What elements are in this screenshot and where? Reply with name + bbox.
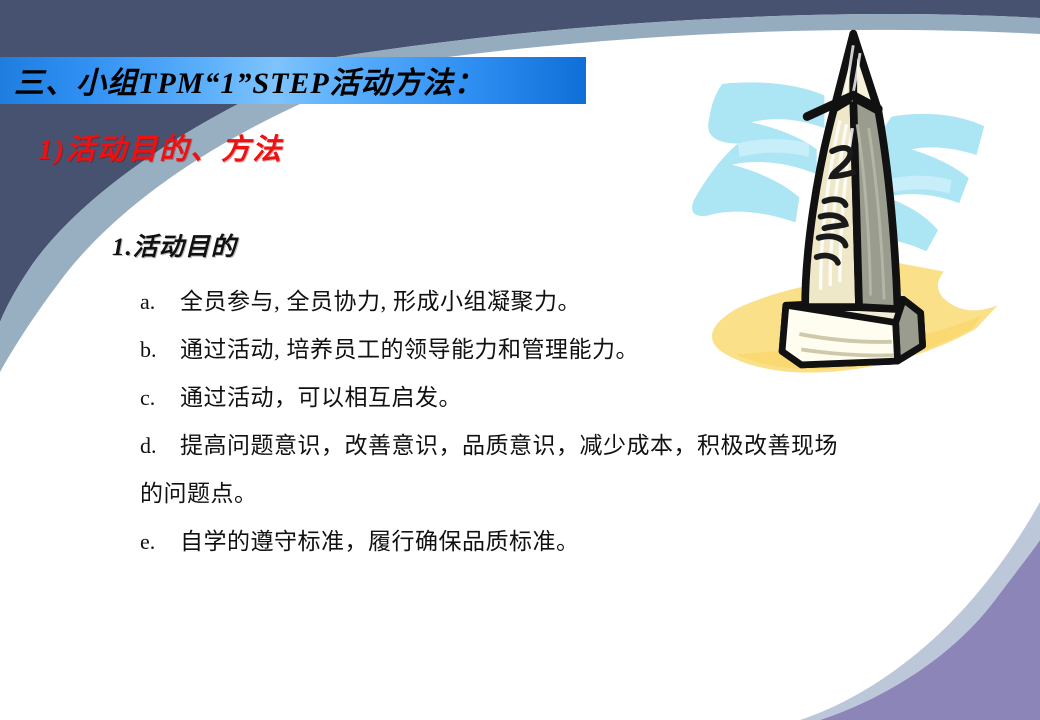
list-item: d. 提高问题意识，改善意识，品质意识，减少成本，积极改善现场: [140, 422, 970, 470]
monument-obelisk-clipart: 黄色地面与淡蓝色飘带衬托的石碑纪念塔插图: [655, 28, 1040, 413]
page-title: 三、小组TPM“1”STEP活动方法：: [14, 58, 485, 102]
list-item-marker: d.: [140, 422, 180, 470]
monument-shaft: [805, 97, 897, 309]
list-item-label: 自学的遵守标准，履行确保品质标准。: [180, 518, 970, 566]
list-item-label: 提高问题意识，改善意识，品质意识，减少成本，积极改善现场: [180, 422, 970, 470]
list-item: e. 自学的遵守标准，履行确保品质标准。: [140, 518, 970, 566]
list-item-marker: b.: [140, 326, 180, 374]
slide-subtitle: 1)活动目的、方法: [38, 126, 283, 168]
section-heading: 1.活动目的: [112, 227, 237, 263]
presentation-slide: 三、小组TPM“1”STEP活动方法： 1)活动目的、方法 1.活动目的 a. …: [0, 0, 1040, 720]
list-item-continuation: 的问题点。: [140, 470, 970, 518]
footer-purple-shape: [820, 540, 1040, 720]
list-item-marker: a.: [140, 278, 180, 326]
slide-title-bar: 三、小组TPM“1”STEP活动方法：: [0, 57, 586, 104]
list-item-marker: c.: [140, 374, 180, 422]
list-item-marker: e.: [140, 518, 180, 566]
